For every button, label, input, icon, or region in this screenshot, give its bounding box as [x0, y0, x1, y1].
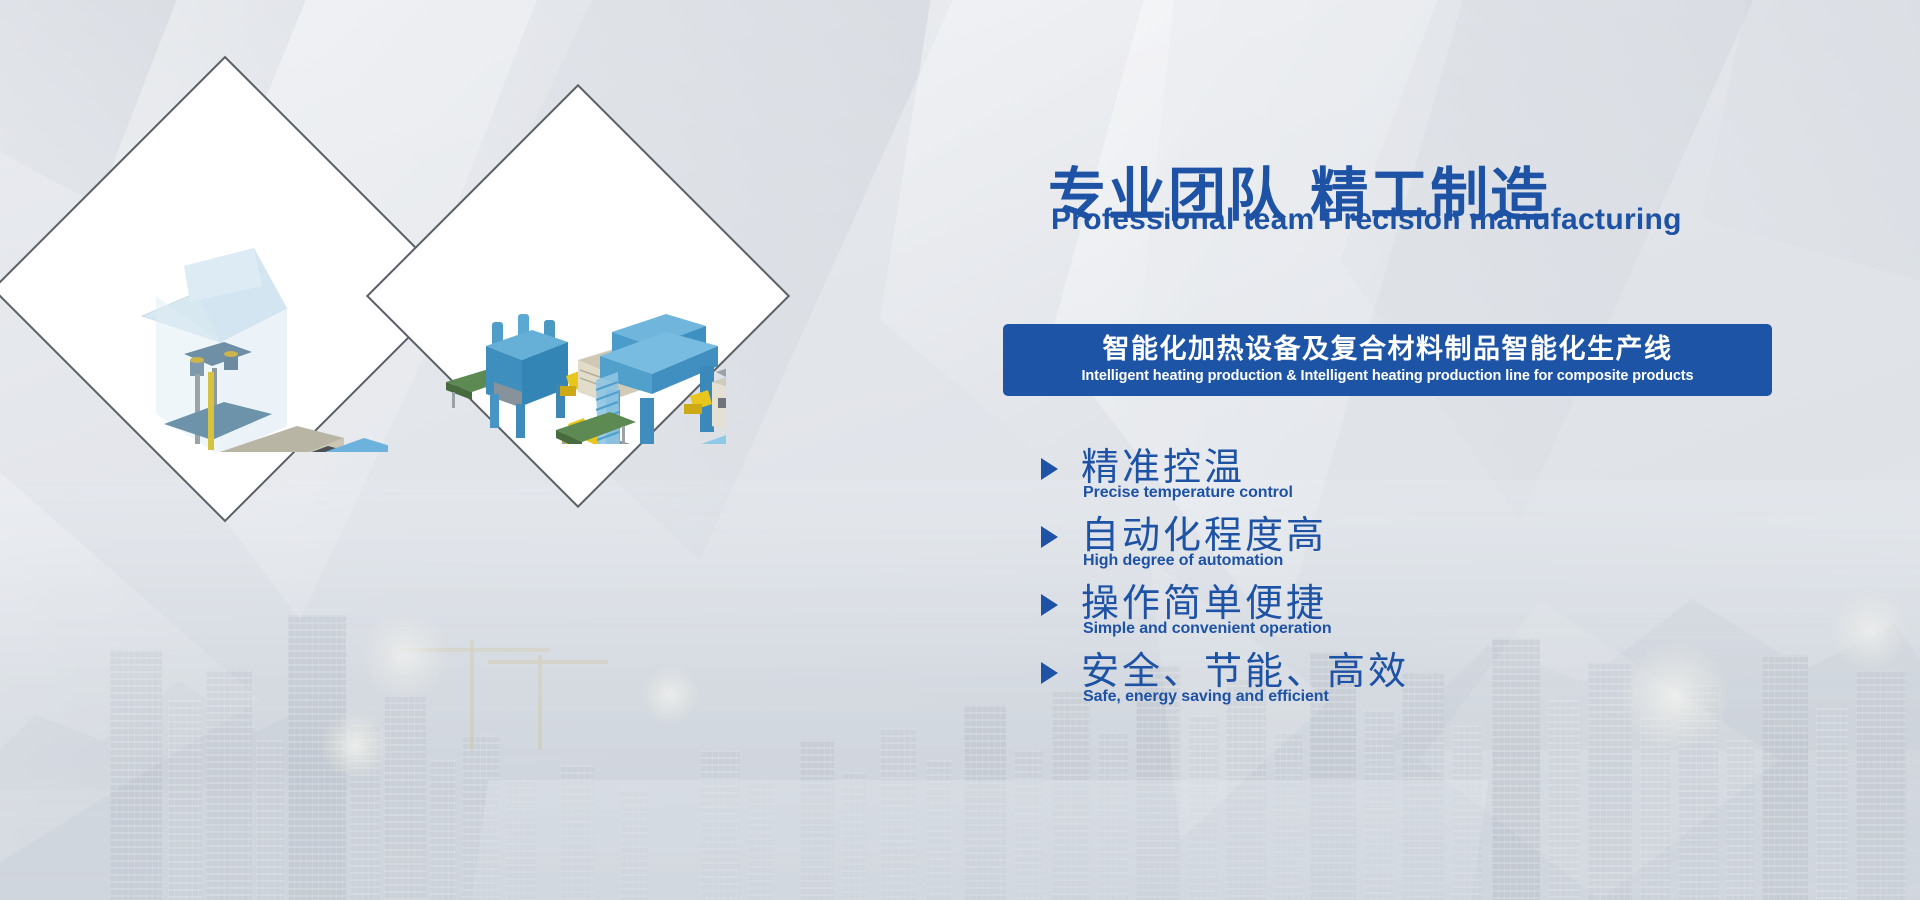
triangle-right-icon — [1041, 594, 1058, 616]
feature-label-english: Safe, energy saving and efficient — [1083, 688, 1329, 706]
feature-label-chinese: 安全、节能、高效 — [1081, 640, 1409, 695]
feature-item-automation: 自动化程度高 High degree of automation — [1041, 508, 1761, 576]
blue-press-frame — [486, 314, 568, 438]
feature-label-chinese: 操作简单便捷 — [1081, 572, 1327, 627]
feature-item-safe-efficient: 安全、节能、高效 Safe, energy saving and efficie… — [1041, 644, 1761, 712]
feature-label-chinese: 自动化程度高 — [1081, 504, 1327, 559]
text-content-column: 专业团队 精工制造 Professional team Precision ma… — [1003, 0, 1803, 900]
triangle-right-icon — [1041, 526, 1058, 548]
production-line-render-left — [62, 126, 388, 452]
promotional-banner: 专业团队 精工制造 Professional team Precision ma… — [0, 0, 1920, 900]
feature-label-english: High degree of automation — [1083, 552, 1283, 570]
headline-english: Professional team Precision manufacturin… — [1051, 203, 1682, 237]
feature-label-chinese: 精准控温 — [1081, 436, 1245, 491]
feature-item-precise-temperature: 精准控温 Precise temperature control — [1041, 440, 1761, 508]
feature-list: 精准控温 Precise temperature control 自动化程度高 … — [1041, 440, 1761, 712]
triangle-right-icon — [1041, 662, 1058, 684]
product-title-chinese: 智能化加热设备及复合材料制品智能化生产线 — [1103, 336, 1673, 364]
feature-label-english: Precise temperature control — [1083, 484, 1293, 502]
triangle-right-icon — [1041, 458, 1058, 480]
product-image-right-frame — [430, 148, 726, 444]
feature-label-english: Simple and convenient operation — [1083, 620, 1332, 638]
product-title-banner: 智能化加热设备及复合材料制品智能化生产线 Intelligent heating… — [1003, 324, 1772, 396]
production-line-render-right — [430, 148, 726, 444]
product-title-english: Intelligent heating production & Intelli… — [1082, 368, 1694, 384]
feature-item-simple-operation: 操作简单便捷 Simple and convenient operation — [1041, 576, 1761, 644]
product-image-left-frame — [62, 126, 388, 452]
